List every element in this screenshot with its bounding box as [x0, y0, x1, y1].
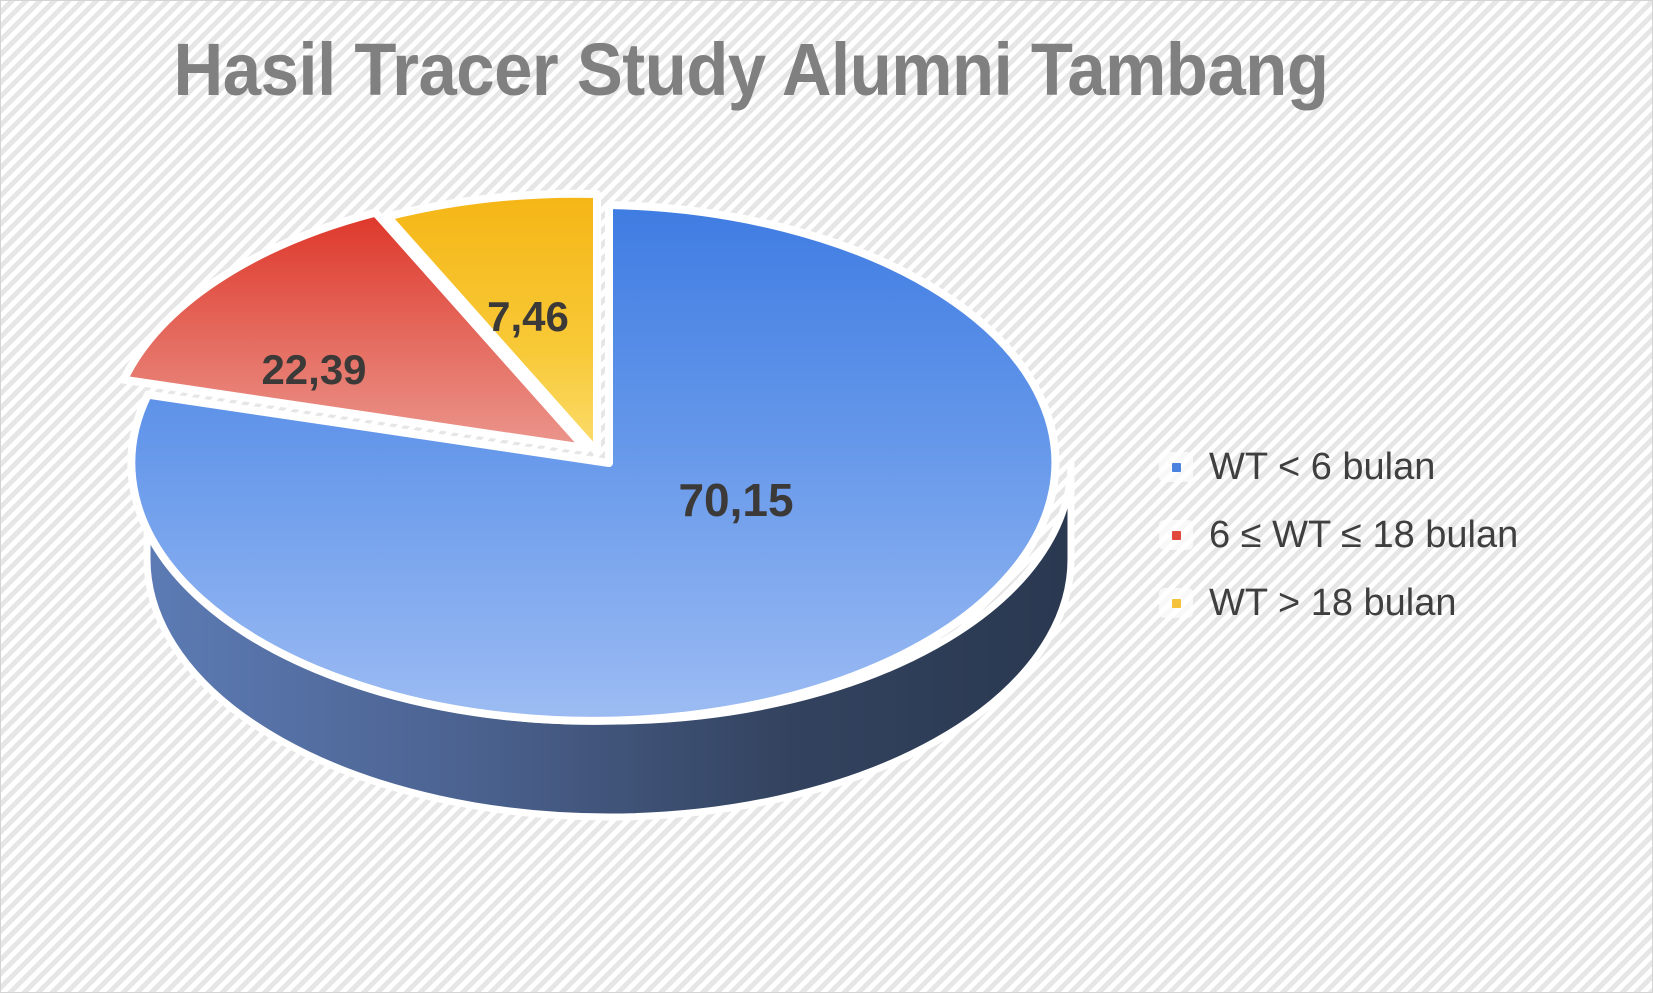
square-marker-icon-red — [1172, 531, 1181, 540]
data-label-6-le-wt-le-18-bulan: 22,39 — [261, 346, 366, 393]
legend-marker-box-3 — [1159, 588, 1193, 618]
data-label-wt-gt-18-bulan: 7,46 — [487, 293, 569, 340]
legend-label-wt-gt-18-bulan: WT > 18 bulan — [1209, 584, 1457, 622]
pie-chart-container: Hasil Tracer Study Alumni Tambang — [0, 0, 1653, 993]
legend-marker-box-1 — [1159, 452, 1193, 482]
pie-plot-area: 70,15 22,39 7,46 — [1, 1, 1141, 993]
legend-marker-box-2 — [1159, 520, 1193, 550]
legend-item-wt-gt-18-bulan[interactable]: WT > 18 bulan — [1159, 569, 1629, 637]
legend-label-wt-lt-6-bulan: WT < 6 bulan — [1209, 448, 1435, 486]
legend-item-6-le-wt-le-18-bulan[interactable]: 6 ≤ WT ≤ 18 bulan — [1159, 501, 1629, 569]
data-label-wt-lt-6-bulan: 70,15 — [678, 474, 793, 526]
chart-legend: WT < 6 bulan 6 ≤ WT ≤ 18 bulan WT > 18 b… — [1159, 433, 1629, 637]
pie-svg: 70,15 22,39 7,46 — [1, 1, 1141, 993]
legend-label-6-le-wt-le-18-bulan: 6 ≤ WT ≤ 18 bulan — [1209, 516, 1518, 554]
square-marker-icon-yellow — [1172, 599, 1181, 608]
square-marker-icon-blue — [1172, 463, 1181, 472]
legend-item-wt-lt-6-bulan[interactable]: WT < 6 bulan — [1159, 433, 1629, 501]
